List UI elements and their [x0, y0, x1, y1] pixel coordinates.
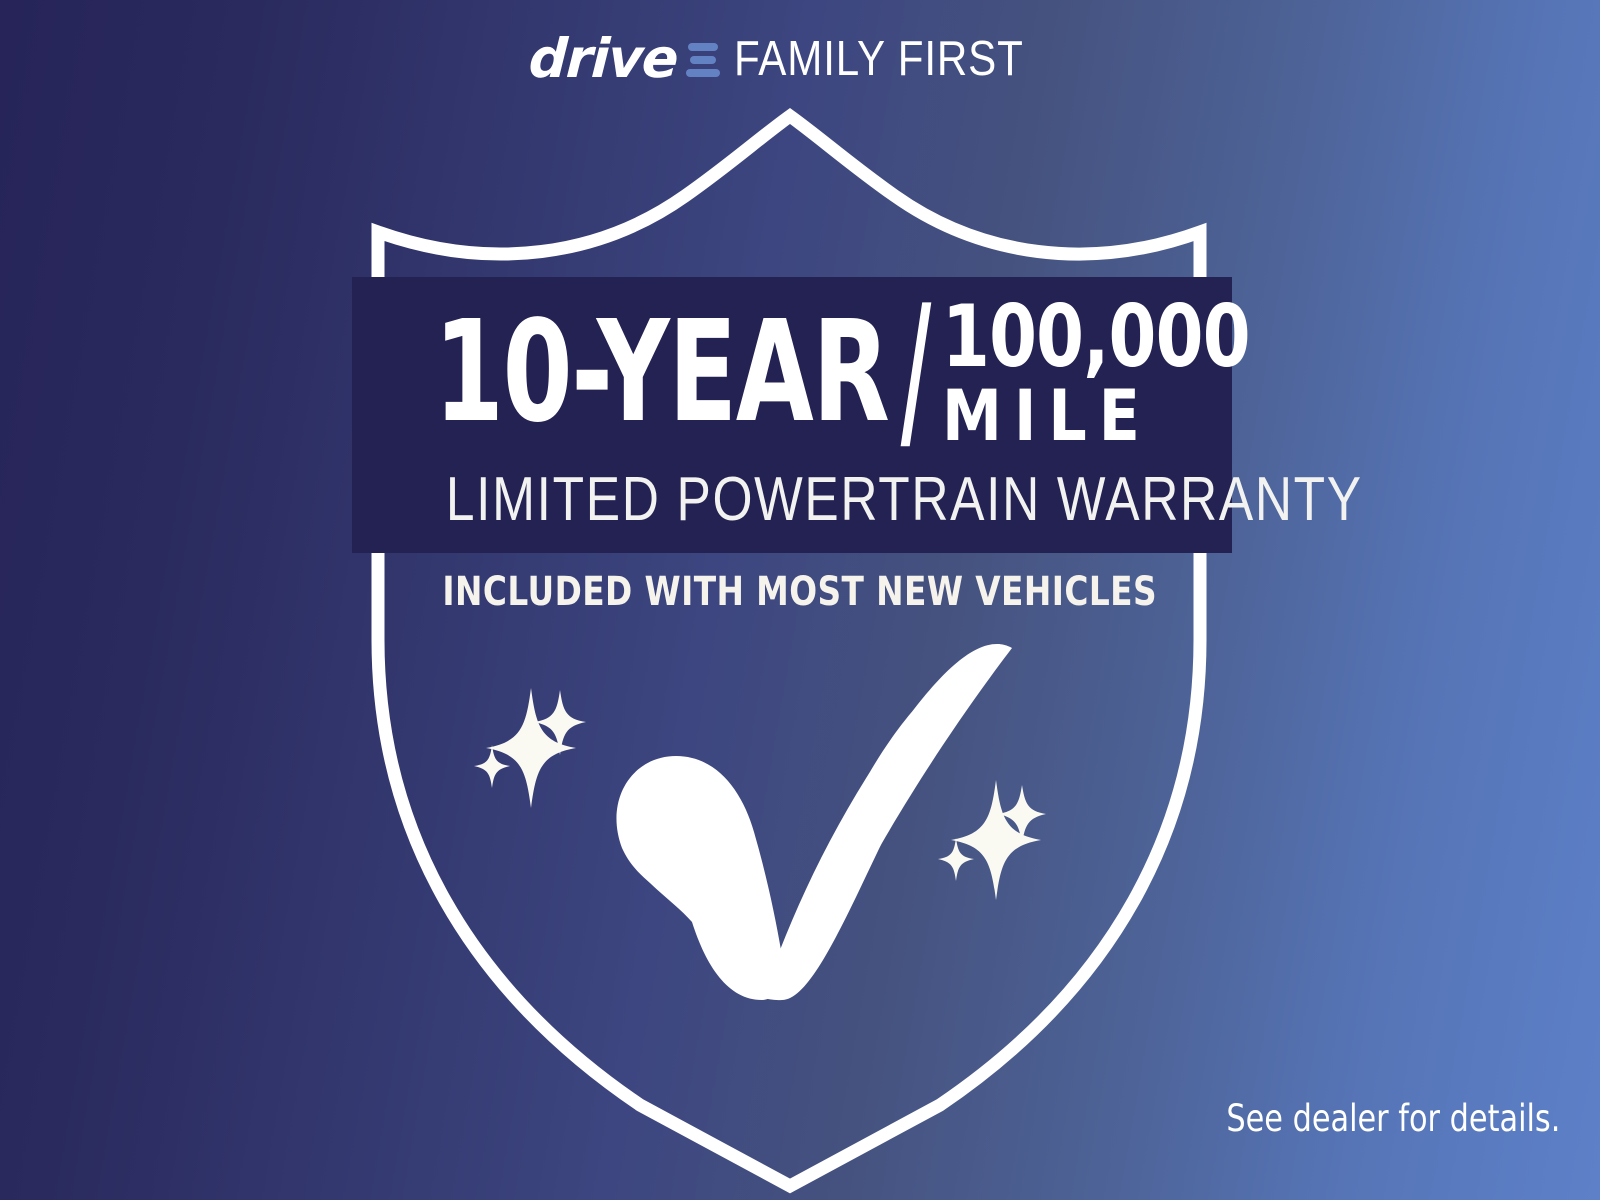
headline-mileage-stack: 100,000 MILE [942, 301, 1327, 451]
warranty-subline: LIMITED POWERTRAIN WARRANTY [446, 469, 1363, 531]
included-note-text: INCLUDED WITH MOST NEW VEHICLES [443, 569, 1158, 615]
headline-mile-word: MILE [942, 381, 1152, 451]
headline-years: 10-YEAR [434, 303, 889, 443]
warranty-promo-banner: drive FAMILY FIRST 10-YEAR / [0, 0, 1600, 1200]
headline-separator: / [901, 283, 932, 458]
headline-row: 10-YEAR / 100,000 MILE [352, 291, 1232, 451]
subline-row: LIMITED POWERTRAIN WARRANTY [352, 469, 1232, 531]
sparkle-cluster-icon [474, 688, 586, 808]
disclaimer-text: See dealer for details. [1226, 1097, 1560, 1140]
checkmark-swoosh-body [616, 644, 1000, 1000]
headline-mileage: 100,000 [942, 301, 1250, 375]
warranty-banner: 10-YEAR / 100,000 MILE LIMITED POWERTRAI… [352, 277, 1232, 553]
included-note: INCLUDED WITH MOST NEW VEHICLES [0, 569, 1600, 615]
sparkle-cluster-icon [938, 780, 1046, 900]
